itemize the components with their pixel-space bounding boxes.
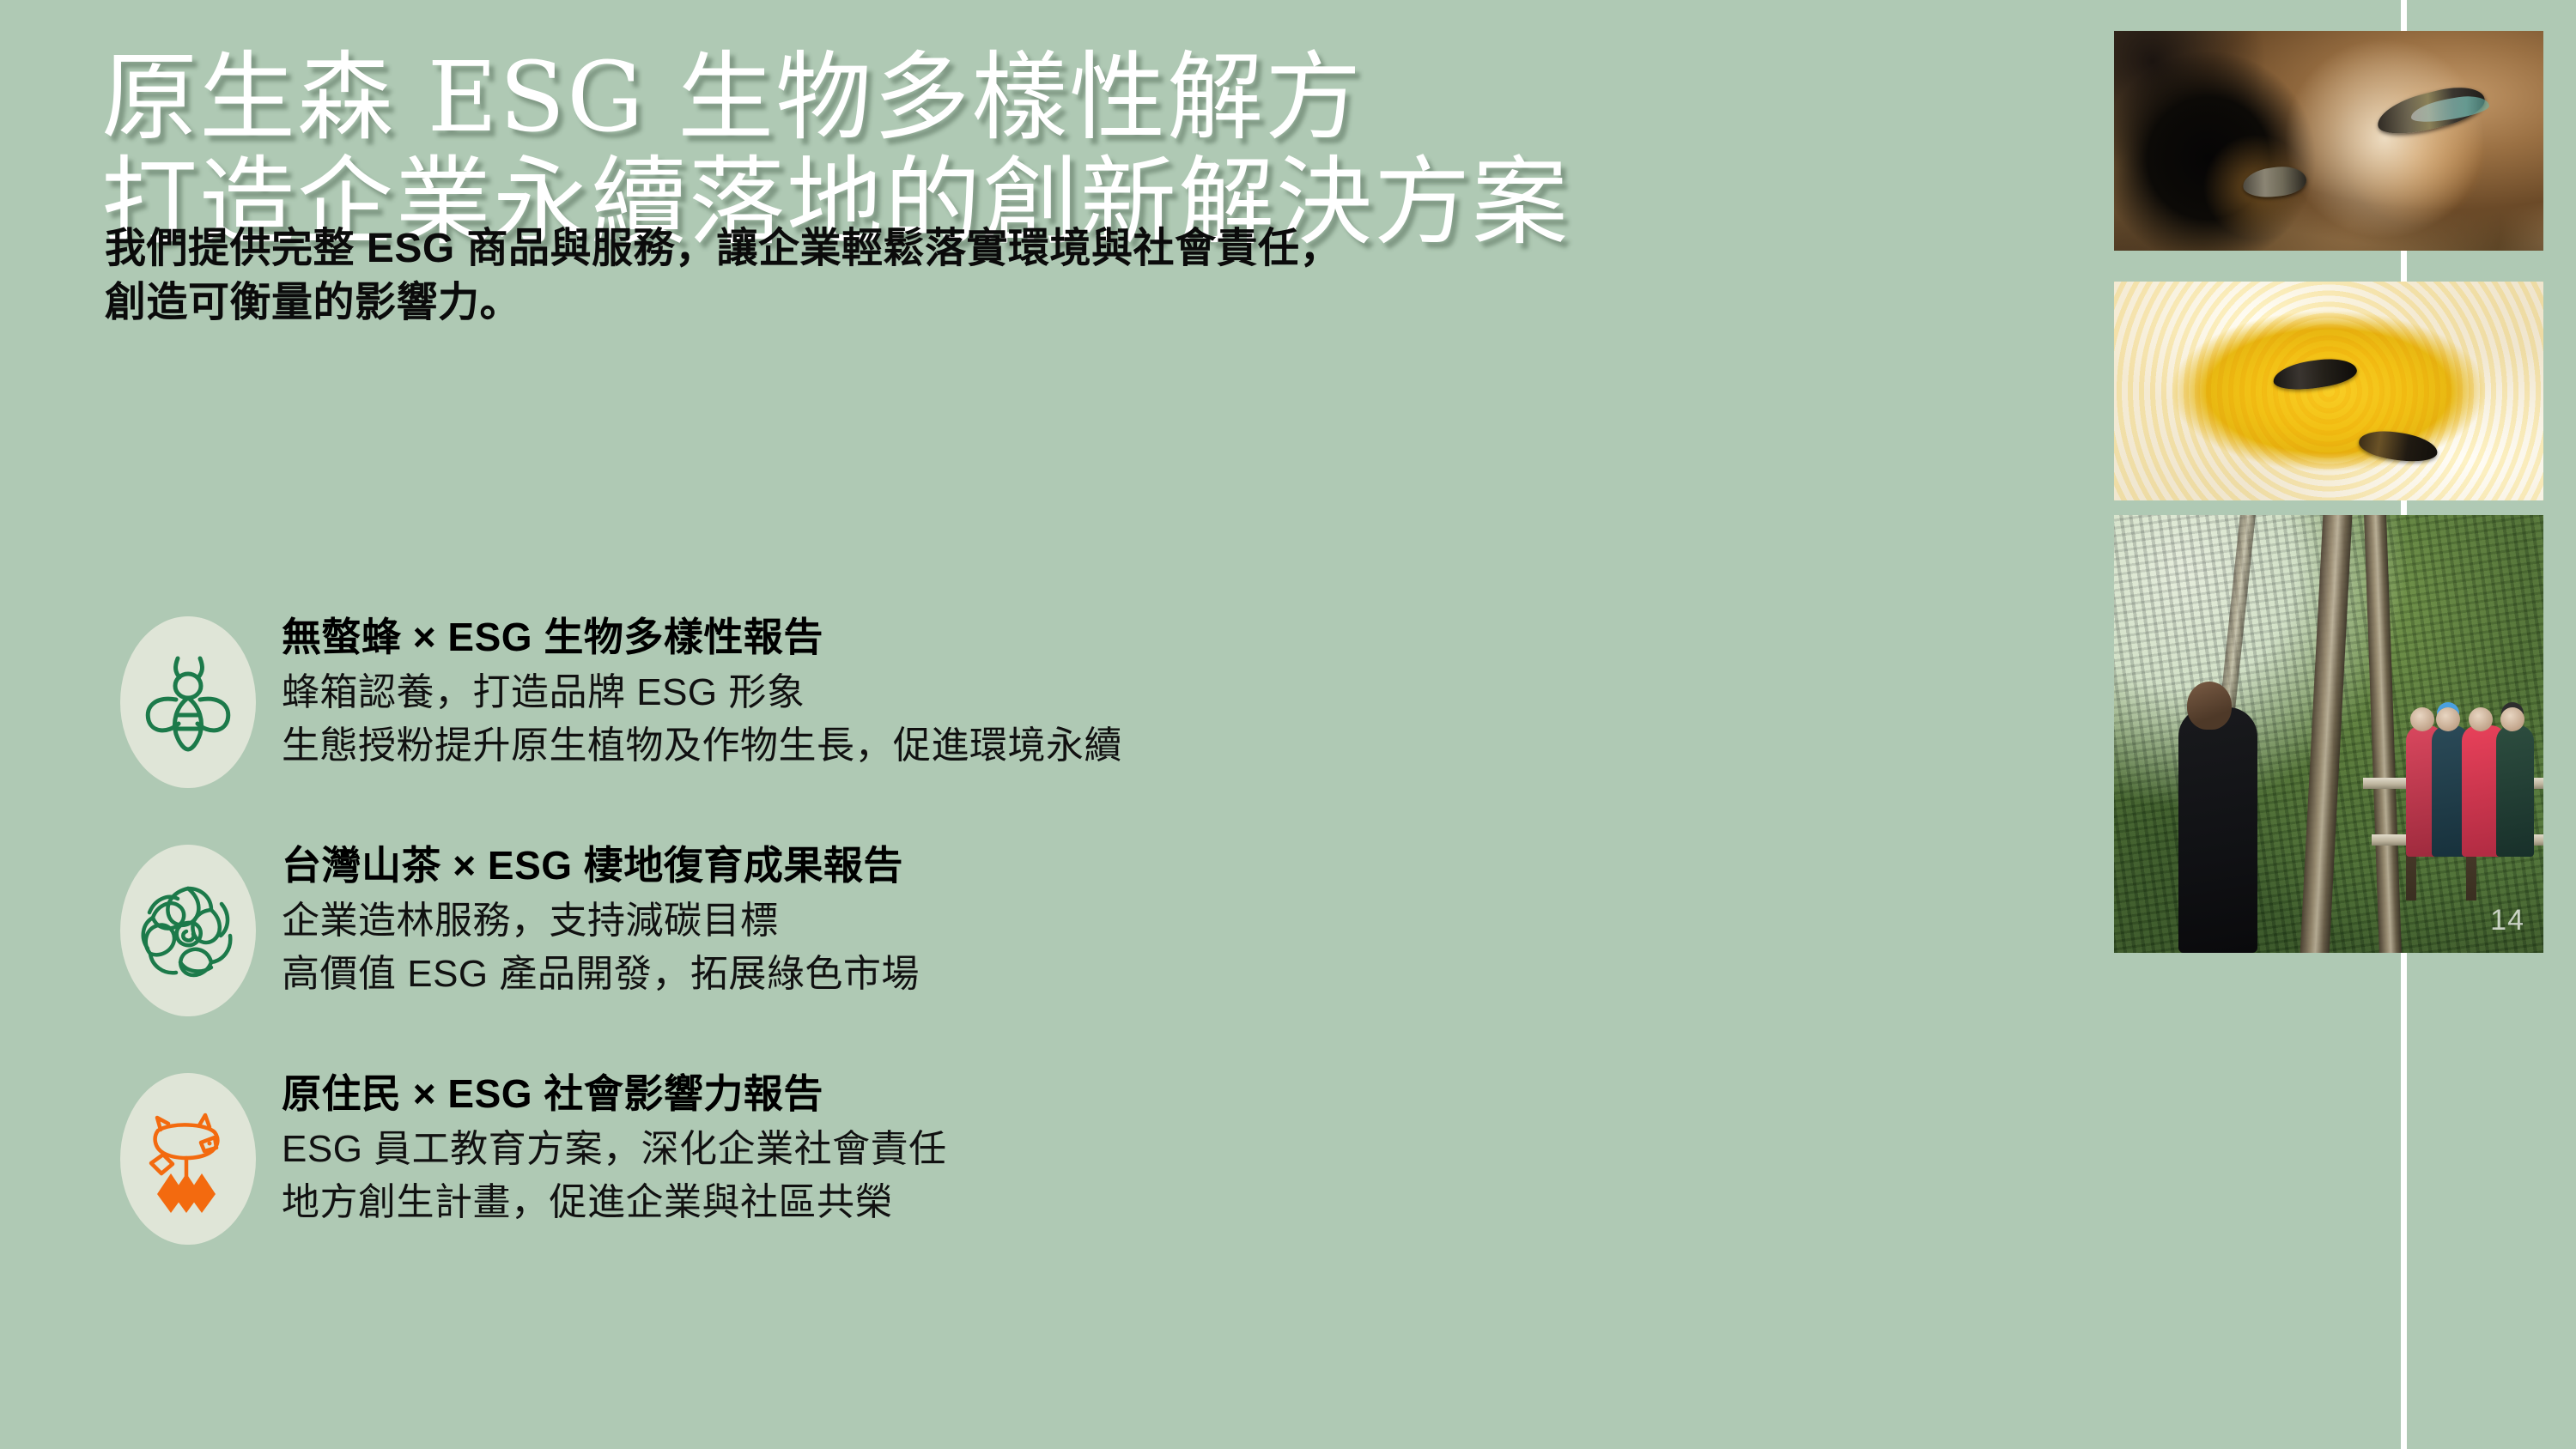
offering-list: 無螫蜂 × ESG 生物多樣性報告 蜂箱認養，打造品牌 ESG 形象 生態授粉提… bbox=[120, 611, 2052, 1245]
list-item-line: 高價值 ESG 產品開發，拓展綠色市場 bbox=[282, 948, 2052, 1001]
page-number: 14 bbox=[2490, 904, 2524, 937]
list-item-title: 無螫蜂 × ESG 生物多樣性報告 bbox=[282, 613, 2052, 661]
list-item-title: 原住民 × ESG 社會影響力報告 bbox=[282, 1070, 2052, 1118]
camellia-flower-icon bbox=[139, 882, 237, 979]
list-item-line: 企業造林服務，支持減碳目標 bbox=[282, 894, 2052, 948]
indigenous-boar-motif-icon bbox=[137, 1105, 239, 1213]
visitor-figure bbox=[2496, 725, 2534, 857]
list-item-line: 地方創生計畫，促進企業與社區共榮 bbox=[282, 1176, 2052, 1229]
indigenous-boar-motif-icon-badge bbox=[120, 1073, 256, 1245]
bee-icon-badge bbox=[120, 616, 256, 788]
page-subtitle: 我們提供完整 ESG 商品與服務，讓企業輕鬆落實環境與社會責任， 創造可衡量的影… bbox=[105, 221, 1977, 330]
list-item-text: 無螫蜂 × ESG 生物多樣性報告 蜂箱認養，打造品牌 ESG 形象 生態授粉提… bbox=[282, 611, 2052, 772]
subtitle-line-1: 我們提供完整 ESG 商品與服務，讓企業輕鬆落實環境與社會責任， bbox=[105, 221, 1977, 276]
bee-icon bbox=[140, 650, 236, 755]
forest-guide-with-visitors-photo: 14 bbox=[2114, 515, 2543, 953]
list-item-title: 台灣山茶 × ESG 棲地復育成果報告 bbox=[282, 841, 2052, 889]
list-item: 無螫蜂 × ESG 生物多樣性報告 蜂箱認養，打造品牌 ESG 形象 生態授粉提… bbox=[120, 611, 2052, 788]
list-item-text: 台灣山茶 × ESG 棲地復育成果報告 企業造林服務，支持減碳目標 高價值 ES… bbox=[282, 840, 2052, 1000]
stingless-bees-on-hive-photo bbox=[2114, 31, 2543, 251]
list-item-text: 原住民 × ESG 社會影響力報告 ESG 員工教育方案，深化企業社會責任 地方… bbox=[282, 1068, 2052, 1228]
visitor-head bbox=[2469, 707, 2493, 731]
list-item-line: ESG 員工教育方案，深化企業社會責任 bbox=[282, 1123, 2052, 1176]
guide-figure bbox=[2178, 707, 2257, 953]
list-item: 原住民 × ESG 社會影響力報告 ESG 員工教育方案，深化企業社會責任 地方… bbox=[120, 1068, 2052, 1245]
list-item-line: 蜂箱認養，打造品牌 ESG 形象 bbox=[282, 666, 2052, 719]
list-item-line: 生態授粉提升原生植物及作物生長，促進環境永續 bbox=[282, 719, 2052, 773]
subtitle-line-2: 創造可衡量的影響力。 bbox=[105, 276, 1977, 330]
bees-on-camellia-flower-photo bbox=[2114, 282, 2543, 500]
page-title: 原生森 ESG 生物多樣性解方 打造企業永續落地的創新解決方案 bbox=[101, 50, 2025, 251]
title-line-1: 原生森 ESG 生物多樣性解方 bbox=[101, 50, 2025, 146]
list-item: 台灣山茶 × ESG 棲地復育成果報告 企業造林服務，支持減碳目標 高價值 ES… bbox=[120, 840, 2052, 1016]
camellia-flower-icon-badge bbox=[120, 845, 256, 1016]
guide-head bbox=[2187, 682, 2232, 730]
slide-root: 原生森 ESG 生物多樣性解方 打造企業永續落地的創新解決方案 我們提供完整 E… bbox=[0, 0, 2576, 1449]
